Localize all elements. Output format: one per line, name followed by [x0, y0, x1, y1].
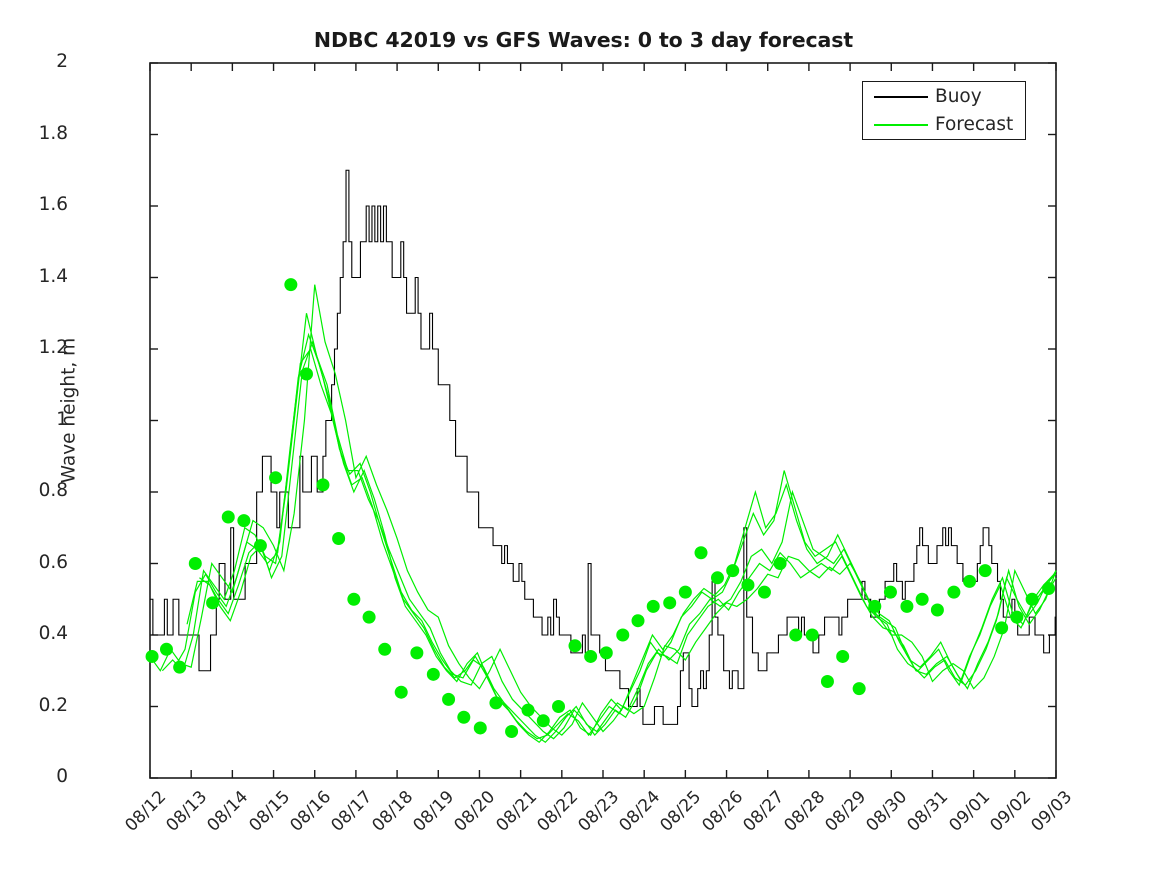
legend-label-buoy: Buoy — [935, 84, 982, 109]
legend-line-forecast — [874, 124, 928, 126]
forecast-marker-group — [146, 278, 1056, 738]
legend: Buoy Forecast — [862, 81, 1026, 140]
legend-entry-forecast: Forecast — [863, 110, 1027, 139]
legend-entry-buoy: Buoy — [863, 82, 1027, 111]
figure-canvas: NDBC 42019 vs GFS Waves: 0 to 3 day fore… — [0, 0, 1167, 875]
axes-ticks — [150, 63, 1056, 778]
legend-line-buoy — [874, 96, 928, 98]
legend-label-forecast: Forecast — [935, 112, 1013, 137]
axes-frame — [150, 63, 1056, 778]
